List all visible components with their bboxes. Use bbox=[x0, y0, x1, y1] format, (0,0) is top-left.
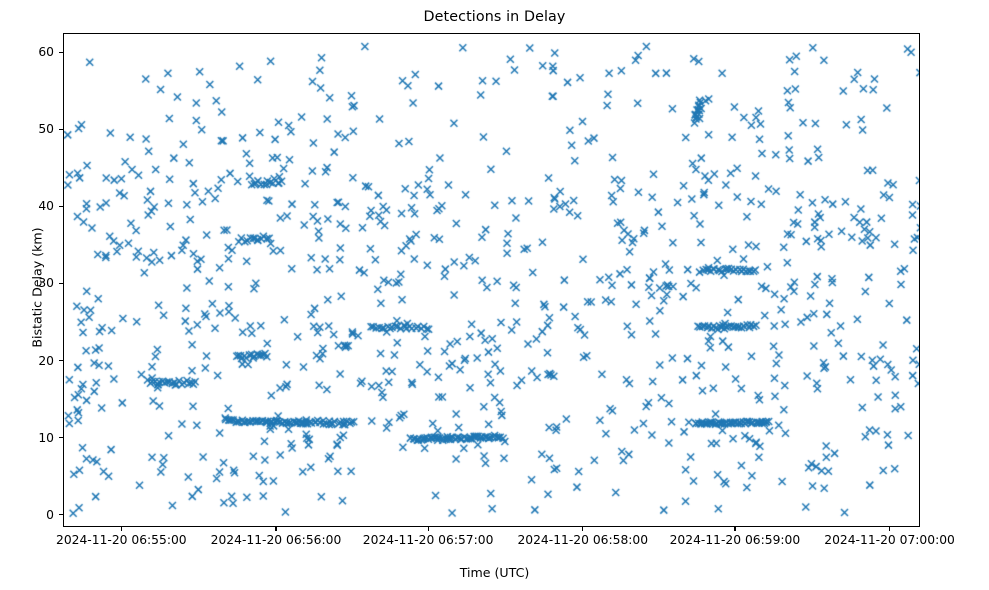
y-tick-label: 30 bbox=[0, 276, 54, 290]
y-tick-mark bbox=[59, 514, 63, 515]
x-axis-label: Time (UTC) bbox=[0, 565, 989, 580]
y-axis-label: Bistatic Delay (km) bbox=[30, 188, 45, 388]
y-tick-label: 50 bbox=[0, 122, 54, 136]
y-tick-label: 20 bbox=[0, 354, 54, 368]
x-tick-label: 2024-11-20 06:59:00 bbox=[670, 533, 801, 547]
x-tick-label: 2024-11-20 06:56:00 bbox=[211, 533, 342, 547]
y-tick-label: 40 bbox=[0, 199, 54, 213]
x-tick-label: 2024-11-20 07:00:00 bbox=[824, 533, 955, 547]
matplotlib-figure: Detections in Delay 0102030405060 2024-1… bbox=[0, 0, 989, 590]
y-tick-label: 0 bbox=[0, 508, 54, 522]
x-tick-mark bbox=[121, 527, 122, 531]
y-tick-mark bbox=[59, 52, 63, 53]
y-tick-mark bbox=[59, 206, 63, 207]
x-tick-label: 2024-11-20 06:55:00 bbox=[56, 533, 187, 547]
x-tick-mark bbox=[428, 527, 429, 531]
x-tick-label: 2024-11-20 06:58:00 bbox=[517, 533, 648, 547]
x-tick-mark bbox=[889, 527, 890, 531]
y-tick-mark bbox=[59, 360, 63, 361]
plot-area bbox=[63, 33, 920, 527]
x-tick-mark bbox=[275, 527, 276, 531]
x-tick-mark bbox=[734, 527, 735, 531]
y-tick-mark bbox=[59, 437, 63, 438]
y-tick-label: 60 bbox=[0, 45, 54, 59]
y-tick-label: 10 bbox=[0, 431, 54, 445]
x-tick-mark bbox=[582, 527, 583, 531]
page-title: Detections in Delay bbox=[0, 9, 989, 25]
y-tick-mark bbox=[59, 283, 63, 284]
y-tick-mark bbox=[59, 129, 63, 130]
x-tick-label: 2024-11-20 06:57:00 bbox=[363, 533, 494, 547]
scatter-series bbox=[64, 34, 920, 527]
